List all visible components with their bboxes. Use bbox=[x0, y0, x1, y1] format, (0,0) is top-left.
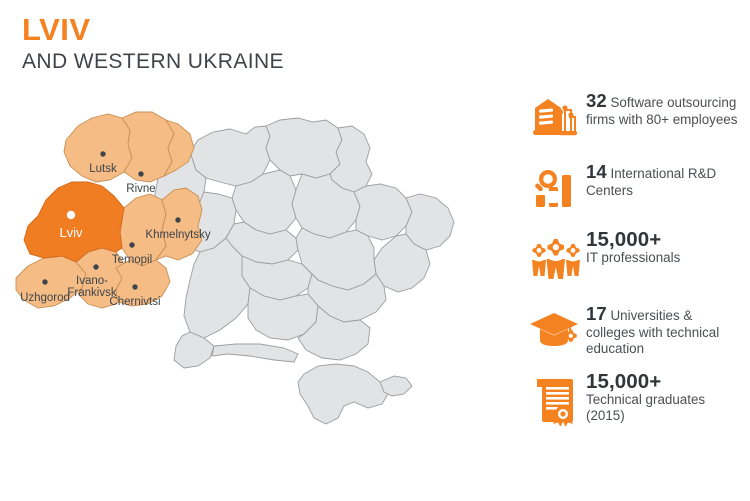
city-label-chernivtsi: Chernivtsi bbox=[109, 296, 160, 308]
stat-text-software-firms: 32 Software outsourcing firms with 80+ e… bbox=[586, 88, 742, 128]
stat-row-graduates: 15,000+Technical graduates (2015) bbox=[524, 372, 742, 430]
page-title: LVIV bbox=[22, 14, 284, 47]
city-dot-khmelnytsky bbox=[175, 217, 180, 222]
stat-text-it-professionals: 15,000+IT professionals bbox=[586, 230, 680, 266]
city-dot-rivne bbox=[138, 171, 143, 176]
city-label-lviv: Lviv bbox=[59, 225, 83, 240]
page-header: LVIV AND WESTERN UKRAINE bbox=[22, 14, 284, 74]
city-dot-lutsk bbox=[100, 151, 105, 156]
city-label-uzhgorod: Uzhgorod bbox=[20, 292, 70, 304]
city-dot-ternopil bbox=[129, 242, 134, 247]
city-label-khmelnytsky: Khmelnytsky bbox=[145, 229, 210, 241]
stat-text-rd-centers: 14 International R&D Centers bbox=[586, 159, 742, 199]
office-building-circuit-icon bbox=[524, 88, 586, 146]
city-dot-ivano-frankivsk bbox=[93, 264, 98, 269]
statistics-list: 32 Software outsourcing firms with 80+ e… bbox=[524, 88, 742, 443]
stat-row-universities: 17 Universities & colleges with technica… bbox=[524, 301, 742, 359]
stat-label-it-professionals: IT professionals bbox=[586, 250, 680, 265]
stat-label-software-firms: Software outsourcing firms with 80+ empl… bbox=[586, 95, 737, 127]
people-gears-icon bbox=[524, 230, 586, 288]
ukraine-map: Lutsk Rivne Lviv Khmelnytsky Ternopil Iv… bbox=[8, 82, 518, 472]
stat-number-graduates: 15,000+ bbox=[586, 374, 742, 391]
map-regions-grey bbox=[154, 118, 454, 424]
city-dot-lviv bbox=[67, 211, 75, 219]
map-region-lviv bbox=[24, 182, 124, 262]
stat-text-universities: 17 Universities & colleges with technica… bbox=[586, 301, 742, 358]
city-label-ternopil: Ternopil bbox=[112, 254, 152, 266]
stat-number-universities: 17 bbox=[586, 303, 607, 324]
graduation-cap-gear-icon bbox=[524, 301, 586, 359]
ukraine-map-svg: Lutsk Rivne Lviv Khmelnytsky Ternopil Iv… bbox=[8, 82, 518, 472]
certificate-award-icon bbox=[524, 372, 586, 430]
stat-row-it-professionals: 15,000+IT professionals bbox=[524, 230, 742, 288]
stat-row-rd-centers: 14 International R&D Centers bbox=[524, 159, 742, 217]
city-label-ivano-frankivsk-line1: Ivano- bbox=[76, 275, 108, 287]
stat-number-rd-centers: 14 bbox=[586, 161, 607, 182]
stat-number-it-professionals: 15,000+ bbox=[586, 232, 680, 249]
city-dot-chernivtsi bbox=[132, 284, 137, 289]
city-label-lutsk: Lutsk bbox=[89, 163, 117, 175]
stat-number-software-firms: 32 bbox=[586, 90, 607, 111]
magnifier-bar-chart-icon bbox=[524, 159, 586, 217]
page-subtitle: AND WESTERN UKRAINE bbox=[22, 50, 284, 74]
city-label-rivne: Rivne bbox=[126, 183, 155, 195]
stat-text-graduates: 15,000+Technical graduates (2015) bbox=[586, 372, 742, 425]
stat-label-graduates: Technical graduates (2015) bbox=[586, 392, 705, 424]
stat-row-software-firms: 32 Software outsourcing firms with 80+ e… bbox=[524, 88, 742, 146]
infographic-page: LVIV AND WESTERN UKRAINE bbox=[0, 0, 750, 501]
stat-label-universities: Universities & colleges with technical e… bbox=[586, 308, 719, 356]
city-dot-uzhgorod bbox=[42, 279, 47, 284]
